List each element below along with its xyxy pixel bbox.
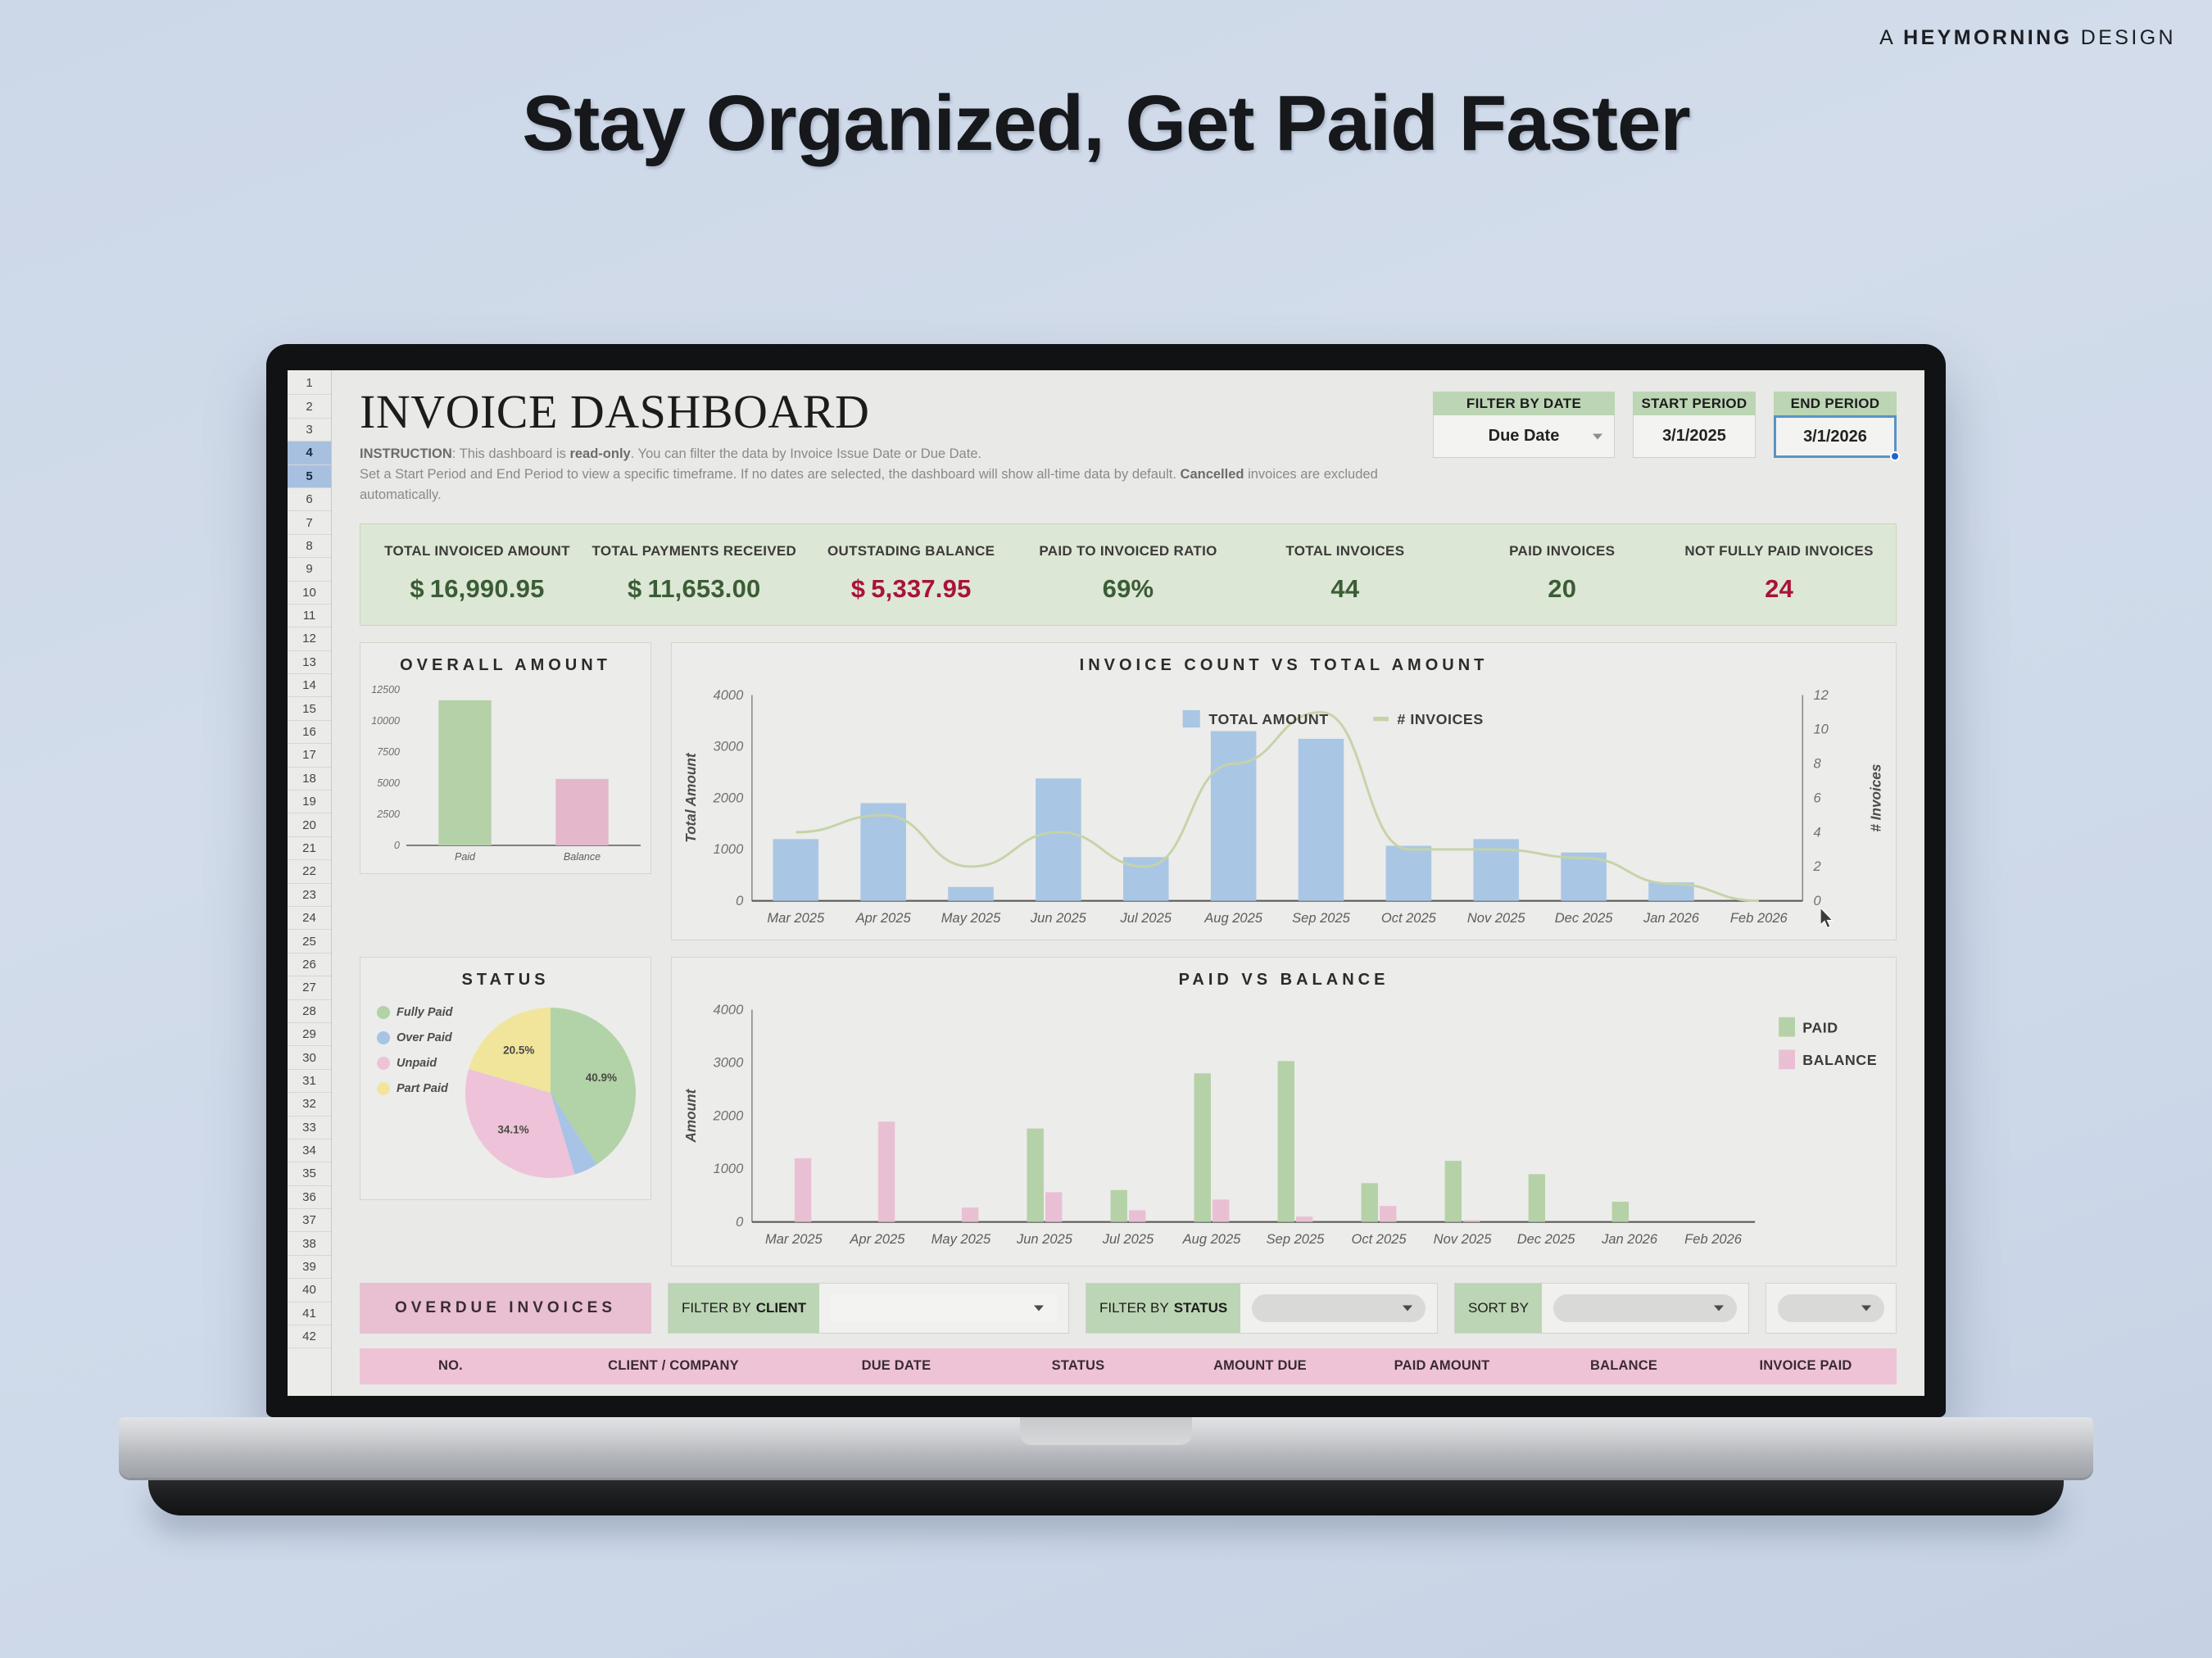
svg-text:Dec 2025: Dec 2025	[1555, 910, 1614, 926]
svg-text:Nov 2025: Nov 2025	[1467, 910, 1526, 926]
overall-amount-chart-card: OVERALL AMOUNT 02500500075001000012500Pa…	[360, 642, 651, 874]
svg-text:Feb 2026: Feb 2026	[1684, 1232, 1743, 1248]
paid-vs-balance-chart-title: PAID VS BALANCE	[672, 958, 1896, 994]
instruction-readonly: read-only	[569, 446, 630, 461]
row-header-32[interactable]: 32	[288, 1093, 331, 1116]
svg-text:Feb 2026: Feb 2026	[1730, 910, 1788, 926]
row-header-6[interactable]: 6	[288, 488, 331, 511]
row-header-35[interactable]: 35	[288, 1162, 331, 1185]
kpi-number-2: 5,337.95	[871, 574, 971, 603]
svg-text:Aug 2025: Aug 2025	[1203, 910, 1263, 926]
row-header-26[interactable]: 26	[288, 954, 331, 976]
svg-text:4000: 4000	[714, 1002, 745, 1017]
page-title: INVOICE DASHBOARD	[360, 388, 1433, 436]
svg-text:May 2025: May 2025	[941, 910, 1001, 926]
svg-text:12500: 12500	[371, 684, 400, 695]
sort-by-dropdown[interactable]	[1553, 1294, 1737, 1322]
filter-by-status-prefix: FILTER BY	[1099, 1300, 1169, 1316]
filter-by-date-control[interactable]: FILTER BY DATE Due Date	[1433, 392, 1615, 458]
svg-text:Oct 2025: Oct 2025	[1381, 910, 1437, 926]
svg-text:Over Paid: Over Paid	[397, 1031, 453, 1044]
table-header-cell: CLIENT / COMPANY	[542, 1358, 805, 1374]
instruction-label: INSTRUCTION	[360, 446, 452, 461]
svg-text:PAID: PAID	[1802, 1020, 1838, 1036]
svg-text:20.5%: 20.5%	[503, 1044, 534, 1057]
kpi-label-2: OUTSTADING BALANCE	[803, 542, 1020, 561]
status-pie-plot: 40.9%34.1%20.5%Fully PaidOver PaidUnpaid…	[360, 994, 650, 1199]
start-period-control[interactable]: START PERIOD 3/1/2025	[1633, 392, 1756, 458]
row-header-15[interactable]: 15	[288, 697, 331, 720]
filter-by-client-prefix: FILTER BY	[682, 1300, 751, 1316]
laptop-base	[119, 1417, 2093, 1515]
svg-text:6: 6	[1813, 790, 1821, 806]
chevron-down-icon	[1714, 1305, 1724, 1311]
status-chart-card: STATUS 40.9%34.1%20.5%Fully PaidOver Pai…	[360, 957, 651, 1200]
kpi-number-1: 11,653.00	[648, 574, 761, 603]
svg-text:3000: 3000	[714, 1055, 745, 1071]
row-header-2[interactable]: 2	[288, 395, 331, 418]
filter-by-date-dropdown[interactable]: Due Date	[1433, 415, 1615, 458]
row-header-25[interactable]: 25	[288, 930, 331, 953]
kpi-card-3: PAID TO INVOICED RATIO69%	[1020, 542, 1237, 604]
filter-by-status-label: FILTER BYSTATUS	[1086, 1284, 1240, 1333]
table-header-cell: INVOICE PAID	[1715, 1358, 1897, 1374]
svg-text:4: 4	[1813, 824, 1820, 840]
svg-text:Apr 2025: Apr 2025	[855, 910, 912, 926]
svg-text:Jan 2026: Jan 2026	[1601, 1232, 1658, 1248]
end-period-label: END PERIOD	[1774, 392, 1897, 415]
row-header-33[interactable]: 33	[288, 1117, 331, 1139]
svg-text:Dec 2025: Dec 2025	[1517, 1232, 1576, 1248]
svg-text:Sep 2025: Sep 2025	[1267, 1232, 1326, 1248]
filter-by-client-slicer[interactable]: FILTER BYCLIENT	[668, 1283, 1069, 1334]
instruction-text-a: : This dashboard is	[452, 446, 570, 461]
svg-text:3000: 3000	[714, 739, 745, 754]
invoice-count-chart-title: INVOICE COUNT VS TOTAL AMOUNT	[672, 643, 1896, 680]
charts-row-2: STATUS 40.9%34.1%20.5%Fully PaidOver Pai…	[360, 957, 1897, 1266]
instruction-cancelled: Cancelled	[1181, 467, 1244, 482]
svg-text:2500: 2500	[376, 809, 400, 820]
table-header-cell: PAID AMOUNT	[1351, 1358, 1533, 1374]
kpi-value-4: 44	[1236, 574, 1453, 604]
kpi-value-6: 24	[1670, 574, 1888, 604]
charts-right-column-2: PAID VS BALANCE 01000200030004000AmountM…	[671, 957, 1897, 1266]
svg-text:# Invoices: # Invoices	[1867, 764, 1883, 832]
invoice-table-header: NO.CLIENT / COMPANYDUE DATESTATUSAMOUNT …	[360, 1348, 1897, 1384]
svg-text:Fully Paid: Fully Paid	[397, 1006, 454, 1019]
charts-row-1: OVERALL AMOUNT 02500500075001000012500Pa…	[360, 642, 1897, 940]
svg-text:Mar 2025: Mar 2025	[767, 910, 825, 926]
svg-text:Mar 2025: Mar 2025	[765, 1232, 823, 1248]
svg-text:Jul 2025: Jul 2025	[1102, 1232, 1154, 1248]
svg-text:Jun 2025: Jun 2025	[1016, 1232, 1073, 1248]
charts-left-column-2: STATUS 40.9%34.1%20.5%Fully PaidOver Pai…	[360, 957, 651, 1266]
kpi-value-2: $5,337.95	[803, 574, 1020, 604]
kpi-value-3: 69%	[1020, 574, 1237, 604]
sort-by-prefix: SORT BY	[1468, 1300, 1529, 1316]
extra-slicer-field[interactable]	[1766, 1284, 1896, 1333]
table-header-cell: DUE DATE	[805, 1358, 987, 1374]
row-header-30[interactable]: 30	[288, 1046, 331, 1069]
row-header-4[interactable]: 4	[288, 442, 331, 464]
svg-text:Apr 2025: Apr 2025	[849, 1232, 905, 1248]
svg-text:2000: 2000	[713, 1108, 745, 1124]
instruction-text-c: Set a Start Period and End Period to vie…	[360, 467, 1181, 482]
cell-fill-handle[interactable]	[1890, 451, 1900, 461]
overdue-invoices-tag: OVERDUE INVOICES	[360, 1283, 651, 1334]
svg-text:7500: 7500	[377, 746, 400, 758]
svg-text:Jul 2025: Jul 2025	[1120, 910, 1172, 926]
kpi-value-0: $16,990.95	[369, 574, 586, 604]
svg-text:2000: 2000	[713, 790, 745, 806]
instruction-line-2: Set a Start Period and End Period to vie…	[360, 464, 1433, 505]
svg-text:Jun 2025: Jun 2025	[1030, 910, 1087, 926]
kpi-currency-1: $	[628, 574, 641, 603]
row-header-19[interactable]: 19	[288, 790, 331, 813]
svg-text:Paid: Paid	[455, 851, 476, 863]
slicer-row: OVERDUE INVOICES FILTER BYCLIENT	[360, 1283, 1897, 1334]
filter-by-client-field[interactable]	[819, 1284, 1068, 1333]
row-header-34[interactable]: 34	[288, 1139, 331, 1162]
svg-text:BALANCE: BALANCE	[1802, 1052, 1877, 1068]
filter-by-status-dropdown[interactable]	[1252, 1294, 1426, 1322]
row-header-20[interactable]: 20	[288, 813, 331, 836]
brand-suffix: DESIGN	[2081, 26, 2176, 49]
dashboard-sheet: INVOICE DASHBOARD INSTRUCTION: This dash…	[332, 370, 1924, 1396]
brand-name: HEYMORNING	[1903, 26, 2072, 49]
kpi-number-6: 24	[1765, 574, 1793, 603]
svg-text:Part Paid: Part Paid	[397, 1082, 449, 1095]
row-header-24[interactable]: 24	[288, 907, 331, 930]
svg-text:Balance: Balance	[564, 851, 601, 863]
kpi-value-1: $11,653.00	[586, 574, 803, 604]
end-period-input[interactable]: 3/1/2026	[1774, 415, 1897, 458]
row-header-40[interactable]: 40	[288, 1279, 331, 1302]
svg-text:Amount: Amount	[682, 1089, 699, 1144]
kpi-label-5: PAID INVOICES	[1453, 542, 1670, 561]
end-period-value: 3/1/2026	[1803, 428, 1867, 446]
kpi-label-0: TOTAL INVOICED AMOUNT	[369, 542, 586, 561]
row-header-3[interactable]: 3	[288, 419, 331, 442]
row-header-10[interactable]: 10	[288, 582, 331, 605]
kpi-number-4: 44	[1330, 574, 1359, 603]
row-header-16[interactable]: 16	[288, 721, 331, 744]
laptop-lid: 1234567891011121314151617181920212223242…	[266, 344, 1946, 1417]
kpi-value-5: 20	[1453, 574, 1670, 604]
invoice-count-plot: 01000200030004000024681012Total Amount# …	[672, 680, 1896, 940]
table-header-cell: STATUS	[987, 1358, 1169, 1374]
laptop-base-bottom	[148, 1478, 2064, 1515]
row-header-29[interactable]: 29	[288, 1023, 331, 1046]
kpi-label-4: TOTAL INVOICES	[1236, 542, 1453, 561]
row-header-28[interactable]: 28	[288, 1000, 331, 1023]
svg-text:Total Amount: Total Amount	[682, 752, 699, 843]
filter-by-date-value: Due Date	[1489, 427, 1560, 446]
chevron-down-icon	[1034, 1305, 1044, 1311]
svg-text:0: 0	[1813, 893, 1821, 908]
row-header-42[interactable]: 42	[288, 1325, 331, 1348]
laptop-screen: 1234567891011121314151617181920212223242…	[288, 370, 1924, 1396]
kpi-label-1: TOTAL PAYMENTS RECEIVED	[586, 542, 803, 561]
row-header-1[interactable]: 1	[288, 372, 331, 395]
invoice-count-chart-card: INVOICE COUNT VS TOTAL AMOUNT 0100020003…	[671, 642, 1897, 940]
filter-controls: FILTER BY DATE Due Date START PERIOD 3/1…	[1433, 388, 1897, 458]
charts-right-column: INVOICE COUNT VS TOTAL AMOUNT 0100020003…	[671, 642, 1897, 940]
kpi-number-5: 20	[1548, 574, 1576, 603]
kpi-card-0: TOTAL INVOICED AMOUNT$16,990.95	[369, 542, 586, 604]
dashboard-header: INVOICE DASHBOARD INSTRUCTION: This dash…	[360, 388, 1897, 505]
start-period-value: 3/1/2025	[1662, 427, 1726, 446]
overall-amount-plot: 02500500075001000012500PaidBalance	[360, 680, 650, 873]
filter-by-client-bold: CLIENT	[756, 1300, 806, 1316]
extra-slicer-dropdown[interactable]	[1778, 1294, 1884, 1322]
row-header-22[interactable]: 22	[288, 860, 331, 883]
brand-credit: A HEYMORNING DESIGN	[1879, 26, 2176, 50]
svg-text:1000: 1000	[714, 1162, 745, 1177]
laptop-mockup: 1234567891011121314151617181920212223242…	[266, 344, 1946, 1515]
row-header-41[interactable]: 41	[288, 1302, 331, 1325]
table-header-cell: AMOUNT DUE	[1169, 1358, 1351, 1374]
kpi-label-6: NOT FULLY PAID INVOICES	[1670, 542, 1888, 561]
dashboard-header-left: INVOICE DASHBOARD INSTRUCTION: This dash…	[360, 388, 1433, 505]
chevron-down-icon	[1861, 1305, 1871, 1311]
kpi-number-0: 16,990.95	[430, 574, 545, 603]
paid-vs-balance-plot: 01000200030004000AmountMar 2025Apr 2025M…	[672, 994, 1896, 1266]
row-header-7[interactable]: 7	[288, 511, 331, 534]
row-header-8[interactable]: 8	[288, 535, 331, 558]
svg-text:# INVOICES: # INVOICES	[1397, 711, 1483, 727]
filter-by-date-label: FILTER BY DATE	[1433, 392, 1615, 415]
svg-text:5000: 5000	[377, 777, 400, 789]
sort-by-slicer[interactable]: SORT BY	[1454, 1283, 1749, 1334]
svg-text:Nov 2025: Nov 2025	[1434, 1232, 1493, 1248]
svg-text:12: 12	[1813, 687, 1828, 703]
svg-text:4000: 4000	[714, 687, 745, 703]
filter-by-status-slicer[interactable]: FILTER BYSTATUS	[1086, 1283, 1438, 1334]
laptop-base-top	[119, 1417, 2093, 1478]
svg-text:May 2025: May 2025	[931, 1232, 991, 1248]
kpi-card-4: TOTAL INVOICES44	[1236, 542, 1453, 604]
svg-text:Sep 2025: Sep 2025	[1292, 910, 1351, 926]
kpi-card-5: PAID INVOICES20	[1453, 542, 1670, 604]
table-header-cell: NO.	[360, 1358, 542, 1374]
row-header-39[interactable]: 39	[288, 1256, 331, 1279]
svg-text:40.9%: 40.9%	[586, 1071, 617, 1084]
end-period-control[interactable]: END PERIOD 3/1/2026	[1774, 392, 1897, 458]
filter-by-status-bold: STATUS	[1174, 1300, 1227, 1316]
paid-vs-balance-chart-card: PAID VS BALANCE 01000200030004000AmountM…	[671, 957, 1897, 1266]
start-period-input[interactable]: 3/1/2025	[1633, 415, 1756, 458]
svg-text:10000: 10000	[371, 715, 400, 727]
kpi-label-3: PAID TO INVOICED RATIO	[1020, 542, 1237, 561]
row-header-5[interactable]: 5	[288, 465, 331, 488]
sort-by-field[interactable]	[1542, 1284, 1748, 1333]
svg-text:Unpaid: Unpaid	[397, 1057, 437, 1070]
filter-by-client-label: FILTER BYCLIENT	[669, 1284, 819, 1333]
row-header-37[interactable]: 37	[288, 1209, 331, 1232]
svg-text:Aug 2025: Aug 2025	[1182, 1232, 1242, 1248]
filter-by-status-field[interactable]	[1240, 1284, 1437, 1333]
kpi-card-1: TOTAL PAYMENTS RECEIVED$11,653.00	[586, 542, 803, 604]
kpi-card-6: NOT FULLY PAID INVOICES24	[1670, 542, 1888, 604]
row-header-17[interactable]: 17	[288, 744, 331, 767]
svg-text:Oct 2025: Oct 2025	[1351, 1232, 1407, 1248]
row-header-12[interactable]: 12	[288, 627, 331, 650]
row-header-27[interactable]: 27	[288, 976, 331, 999]
svg-text:10: 10	[1813, 722, 1829, 737]
kpi-card-2: OUTSTADING BALANCE$5,337.95	[803, 542, 1020, 604]
svg-text:1000: 1000	[714, 841, 745, 857]
row-header-23[interactable]: 23	[288, 884, 331, 907]
row-header-14[interactable]: 14	[288, 674, 331, 697]
row-header-21[interactable]: 21	[288, 837, 331, 860]
chevron-down-icon	[1403, 1305, 1412, 1311]
filter-by-client-dropdown[interactable]	[831, 1294, 1057, 1322]
kpi-number-3: 69%	[1103, 574, 1154, 603]
laptop-notch	[1020, 1417, 1192, 1445]
kpi-currency-0: $	[410, 574, 424, 603]
kpi-currency-2: $	[851, 574, 865, 603]
kpi-strip: TOTAL INVOICED AMOUNT$16,990.95TOTAL PAY…	[360, 523, 1897, 626]
svg-text:2: 2	[1812, 858, 1820, 874]
start-period-label: START PERIOD	[1633, 392, 1756, 415]
page-headline: Stay Organized, Get Paid Faster	[0, 79, 2212, 169]
brand-prefix: A	[1879, 26, 1895, 49]
row-header-13[interactable]: 13	[288, 651, 331, 674]
extra-slicer[interactable]	[1766, 1283, 1897, 1334]
svg-text:0: 0	[736, 893, 744, 908]
row-header-9[interactable]: 9	[288, 558, 331, 581]
overall-amount-chart-title: OVERALL AMOUNT	[360, 643, 650, 680]
table-header-cell: BALANCE	[1533, 1358, 1715, 1374]
chevron-down-icon	[1593, 433, 1602, 439]
svg-text:0: 0	[736, 1214, 744, 1230]
sort-by-label: SORT BY	[1455, 1284, 1542, 1333]
svg-text:TOTAL AMOUNT: TOTAL AMOUNT	[1208, 711, 1328, 727]
instruction-text-b: . You can filter the data by Invoice Iss…	[631, 446, 981, 461]
spreadsheet-row-gutter[interactable]: 1234567891011121314151617181920212223242…	[288, 370, 332, 1396]
svg-text:0: 0	[394, 840, 400, 851]
instruction-line-1: INSTRUCTION: This dashboard is read-only…	[360, 444, 1433, 464]
svg-text:8: 8	[1813, 756, 1821, 772]
svg-text:34.1%: 34.1%	[497, 1124, 528, 1136]
row-header-36[interactable]: 36	[288, 1186, 331, 1209]
status-chart-title: STATUS	[360, 958, 650, 994]
svg-text:Jan 2026: Jan 2026	[1643, 910, 1700, 926]
row-header-38[interactable]: 38	[288, 1232, 331, 1255]
row-header-18[interactable]: 18	[288, 768, 331, 790]
row-header-31[interactable]: 31	[288, 1070, 331, 1093]
row-header-11[interactable]: 11	[288, 605, 331, 627]
charts-left-column: OVERALL AMOUNT 02500500075001000012500Pa…	[360, 642, 651, 940]
